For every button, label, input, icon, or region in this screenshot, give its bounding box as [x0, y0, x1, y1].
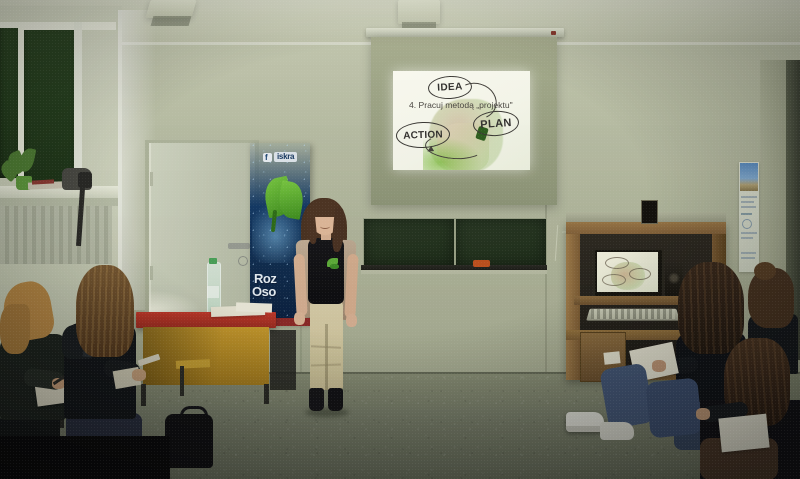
window-sill-front	[0, 198, 118, 206]
monitor-slide-bubble	[629, 268, 651, 280]
poster-text-line	[741, 201, 754, 203]
presenter-smile	[320, 224, 330, 229]
sneaker-sole	[566, 426, 604, 432]
monitor-screen	[597, 252, 658, 292]
monitor-slide-bubble	[605, 257, 629, 269]
student-hair-side	[0, 304, 30, 354]
backpack[interactable]	[165, 414, 213, 468]
keyboard-keys	[591, 309, 675, 319]
presenter-boot	[309, 388, 324, 411]
banner-logo-text: iskra	[274, 152, 297, 162]
handout-paper[interactable]	[718, 414, 769, 453]
paper-on-tower	[603, 351, 620, 365]
radiator	[0, 206, 112, 264]
door-keyhole-icon	[238, 256, 248, 266]
phone[interactable]	[138, 354, 161, 367]
presenter-arm-right	[344, 254, 358, 318]
computer-monitor[interactable]	[593, 248, 664, 300]
student-hand	[696, 408, 710, 420]
door-handle[interactable]	[228, 243, 250, 249]
bottle-cap[interactable]	[209, 258, 217, 264]
poster-text-line	[741, 232, 757, 234]
presenter-boot	[328, 388, 343, 411]
poster-text-line	[741, 196, 757, 198]
student-hand	[652, 360, 666, 372]
table-leg	[264, 384, 269, 404]
monitor-slide-bubble	[602, 274, 626, 286]
presenter-hand	[294, 312, 305, 325]
slide-heading: 4. Pracuj metodą „projektu"	[409, 101, 495, 110]
ceiling-light-icon	[398, 0, 440, 24]
chalkboard-right-panel	[455, 218, 547, 268]
banner-headline-line2: Oso	[252, 285, 276, 298]
framed-photo	[641, 200, 658, 224]
facebook-icon-glyph: f	[265, 153, 269, 162]
poster-text-line	[741, 252, 756, 254]
window-mullion	[74, 22, 82, 190]
ceiling-light-shadow	[151, 16, 192, 26]
door-hinge	[150, 172, 153, 186]
camera-lens-icon	[78, 172, 92, 188]
chalkboard-group	[363, 218, 545, 276]
chalkboard-ledge-lower	[361, 270, 547, 274]
poster-text-line	[741, 257, 755, 259]
bottle-label	[207, 286, 219, 298]
student-hand	[132, 369, 146, 381]
projected-slide: 4. Pracuj metodą „projektu" IDEA PLAN AC…	[393, 71, 530, 170]
projection-screen-mount-dot	[551, 31, 556, 35]
projection-screen-housing	[366, 28, 564, 37]
presenter-logo-icon-leaf	[330, 264, 339, 269]
chalkboard-left-panel	[363, 218, 455, 268]
presenter-trouser-seam	[325, 324, 328, 390]
poster-text-line	[741, 206, 756, 208]
chair-leg	[180, 366, 184, 396]
chalkboard-eraser[interactable]	[473, 260, 490, 267]
white-sneaker	[600, 422, 634, 440]
student-reading-front	[690, 338, 800, 479]
papers-on-table[interactable]	[236, 302, 272, 312]
poster-text-line	[741, 213, 752, 215]
poster-seal-icon	[742, 219, 752, 229]
presenter-hand	[346, 314, 357, 327]
classroom-photo: f iskra Roz Oso 4. Pracuj metodą „projek…	[0, 0, 800, 479]
student-hair-strands	[76, 265, 134, 357]
student-silhouette-foreground	[0, 436, 170, 479]
poster-photo	[740, 163, 758, 191]
presenter	[283, 196, 369, 426]
poster-text-line	[741, 237, 753, 239]
